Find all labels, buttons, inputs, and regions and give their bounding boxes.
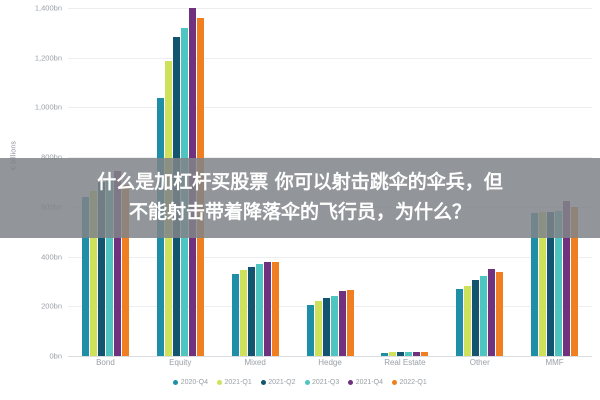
bar[interactable] (272, 262, 279, 356)
y-axis-tick-label: 1,000bn (35, 103, 62, 112)
legend-label: 2021-Q1 (225, 379, 252, 386)
x-axis-label-equity: Equity (143, 358, 218, 372)
x-axis-label-other: Other (442, 358, 517, 372)
bar[interactable] (488, 269, 495, 356)
bar[interactable] (421, 352, 428, 356)
legend-swatch-icon (173, 380, 178, 385)
y-axis-tick-label: 1,400bn (35, 4, 62, 13)
legend-item-2021-q2[interactable]: 2021-Q2 (261, 379, 296, 386)
bar[interactable] (256, 264, 263, 356)
bar[interactable] (496, 272, 503, 357)
legend-item-2020-q4[interactable]: 2020-Q4 (173, 379, 208, 386)
legend-item-2021-q4[interactable]: 2021-Q4 (348, 379, 383, 386)
y-axis-tick-label: 0bn (49, 352, 62, 361)
overlay-banner: 什么是加杠杆买股票 你可以射击跳伞的伞兵，但 不能射击带着降落伞的飞行员，为什么… (0, 158, 600, 238)
y-axis-tick-label: 400bn (41, 252, 62, 261)
chart-container: € billions 0bn200bn400bn600bn800bn1,000b… (0, 0, 600, 400)
bar[interactable] (456, 289, 463, 356)
bar[interactable] (232, 274, 239, 356)
bar[interactable] (323, 298, 330, 356)
chart-legend[interactable]: 2020-Q42021-Q12021-Q22021-Q32021-Q42022-… (0, 379, 600, 386)
legend-label: 2020-Q4 (181, 379, 208, 386)
legend-swatch-icon (305, 380, 310, 385)
bar[interactable] (464, 286, 471, 356)
legend-item-2021-q3[interactable]: 2021-Q3 (305, 379, 340, 386)
bar[interactable] (472, 280, 479, 356)
legend-item-2022-q1[interactable]: 2022-Q1 (392, 379, 427, 386)
overlay-text-line-1: 什么是加杠杆买股票 你可以射击跳伞的伞兵，但 (97, 169, 503, 197)
bar[interactable] (248, 267, 255, 356)
bar[interactable] (264, 262, 271, 356)
bar[interactable] (307, 305, 314, 356)
legend-label: 2022-Q1 (400, 379, 427, 386)
y-axis-tick-label: 200bn (41, 302, 62, 311)
bar[interactable] (240, 270, 247, 356)
bar[interactable] (315, 301, 322, 356)
legend-item-2021-q1[interactable]: 2021-Q1 (217, 379, 252, 386)
x-axis-label-hedge: Hedge (293, 358, 368, 372)
bar[interactable] (480, 276, 487, 356)
legend-label: 2021-Q2 (268, 379, 295, 386)
bar[interactable] (331, 296, 338, 356)
y-axis-tick-label: 1,200bn (35, 53, 62, 62)
bar[interactable] (389, 352, 396, 356)
gridline (68, 356, 592, 357)
legend-swatch-icon (261, 380, 266, 385)
bar[interactable] (405, 352, 412, 356)
legend-swatch-icon (348, 380, 353, 385)
legend-label: 2021-Q4 (356, 379, 383, 386)
x-axis-label-mmf: MMF (517, 358, 592, 372)
overlay-text-line-2: 不能射击带着降落伞的飞行员，为什么？ (129, 199, 471, 227)
legend-swatch-icon (392, 380, 397, 385)
x-axis-category-labels: BondEquityMixedHedgeReal EstateOtherMMF (68, 358, 592, 372)
bar[interactable] (397, 352, 404, 356)
legend-label: 2021-Q3 (312, 379, 339, 386)
bar[interactable] (381, 353, 388, 356)
bar[interactable] (339, 291, 346, 356)
x-axis-label-mixed: Mixed (218, 358, 293, 372)
legend-swatch-icon (217, 380, 222, 385)
x-axis-label-bond: Bond (68, 358, 143, 372)
bar[interactable] (347, 290, 354, 356)
bar[interactable] (413, 352, 420, 356)
x-axis-label-real-estate: Real Estate (367, 358, 442, 372)
